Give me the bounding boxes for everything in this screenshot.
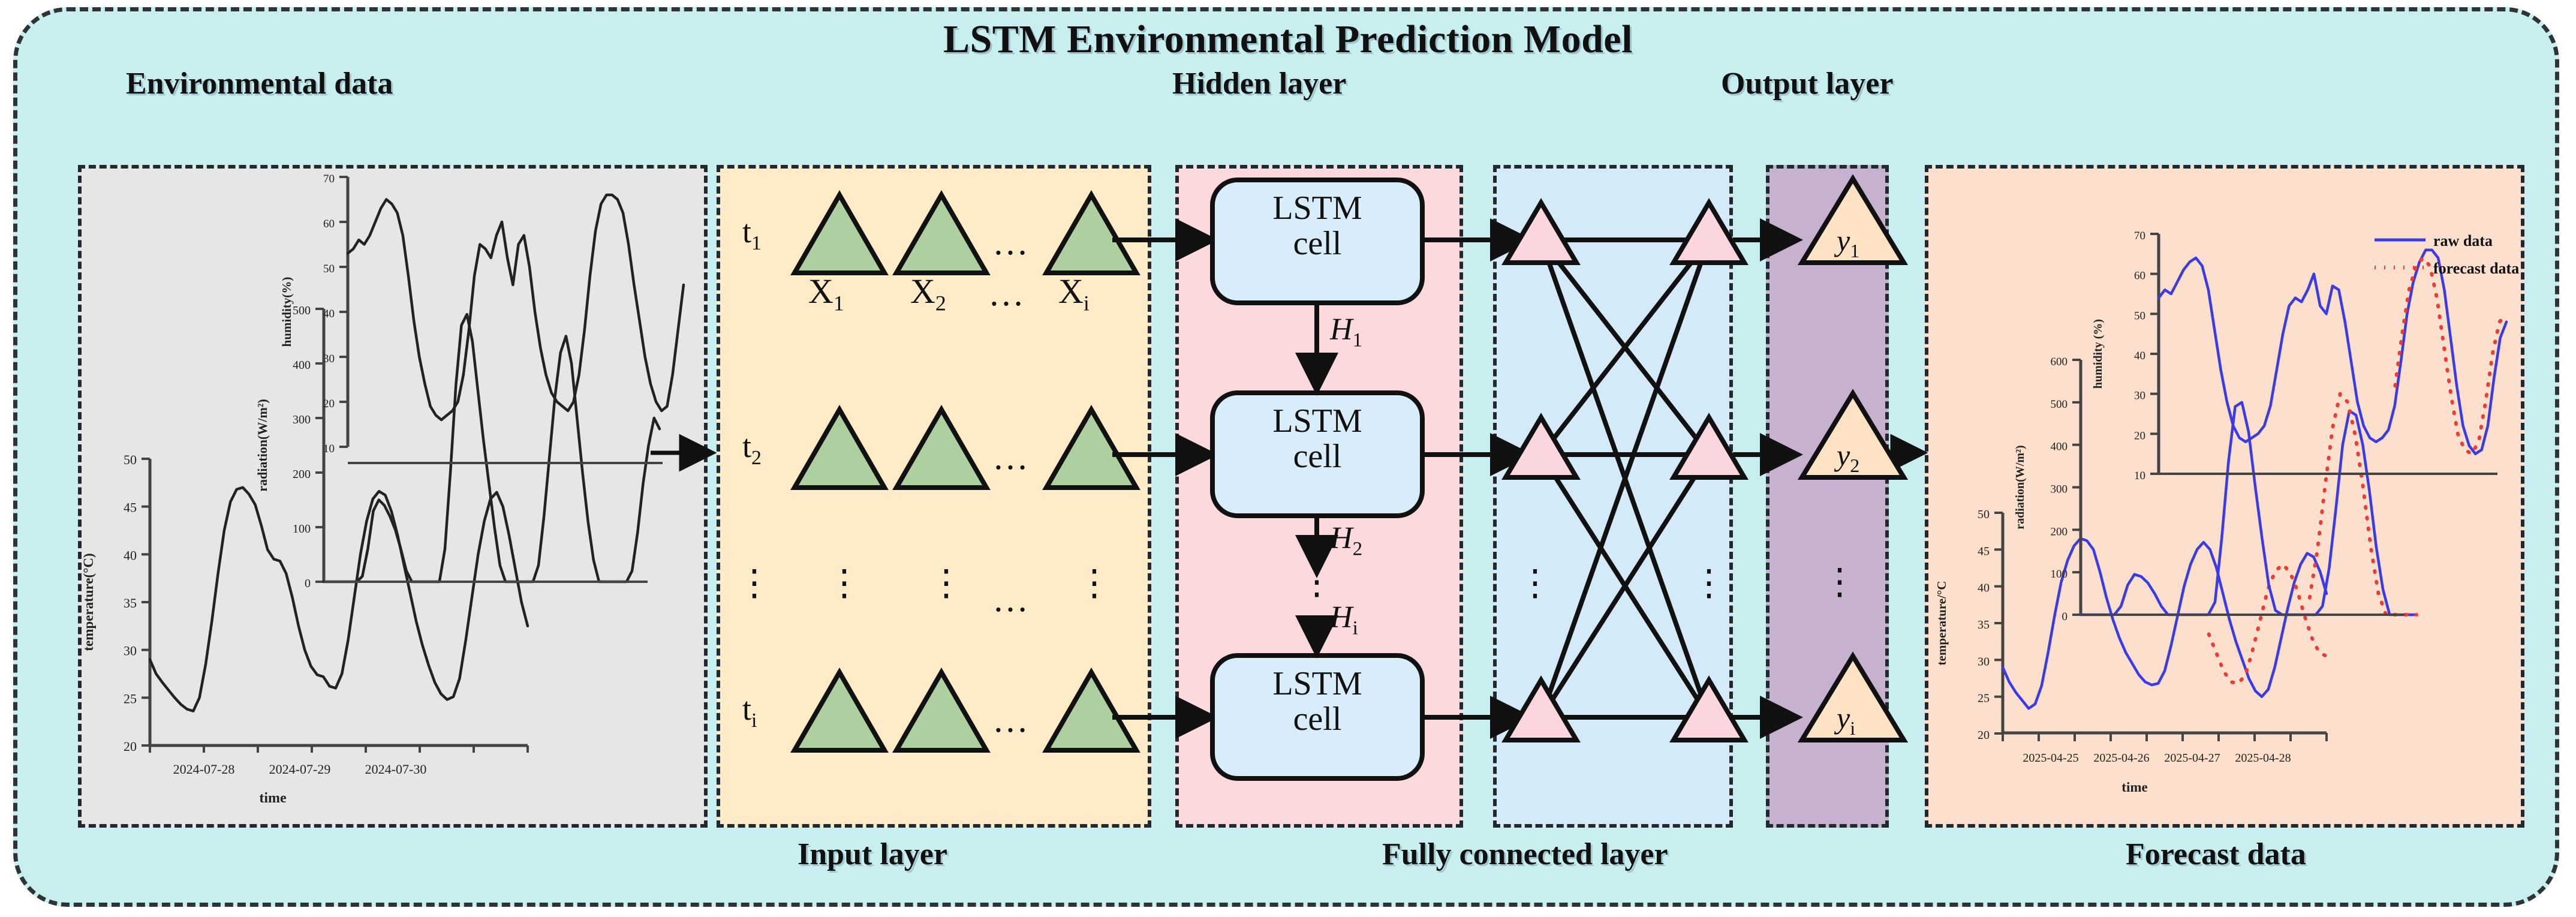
lstm-cell-2-line2: cell [1212, 439, 1422, 474]
h2-base: H [1330, 521, 1353, 555]
label-environmental-data: Environmental data [126, 66, 393, 101]
lstm-cell-1-line2: cell [1212, 226, 1422, 261]
forecast-data-panel [1925, 165, 2524, 828]
diagram-root: LSTM Environmental Prediction Model Envi… [0, 0, 2576, 917]
label-fully-connected-layer: Fully connected layer [1382, 837, 1668, 872]
h1-base: H [1330, 312, 1353, 347]
output-layer-panel [1766, 165, 1889, 828]
label-output-layer: Output layer [1721, 66, 1893, 101]
output-y2: y2 [1837, 438, 1859, 477]
input-row2-ellipsis: … [992, 437, 1032, 478]
input-vdots-col1: ⋮ [826, 576, 862, 591]
xi-sub: i [1084, 291, 1090, 315]
x1-base: X [808, 272, 833, 311]
hidden-state-hi: Hi [1330, 600, 1358, 639]
y1-base: y [1837, 224, 1850, 257]
t1-base: t [742, 214, 751, 249]
input-vdots-col2: ⋮ [928, 576, 964, 591]
output-y1: y1 [1837, 223, 1859, 262]
hi-sub: i [1353, 617, 1358, 639]
xi-base: X [1058, 272, 1084, 311]
y1-sub: 1 [1850, 240, 1859, 261]
input-timestep-t1: t1 [742, 213, 762, 255]
output-yi: yi [1837, 700, 1855, 739]
lstm-cell-1-line1: LSTM [1212, 191, 1422, 226]
yi-sub: i [1850, 717, 1855, 739]
input-layer-panel [717, 165, 1151, 828]
input-timestep-ti: ti [742, 690, 757, 732]
label-forecast-data: Forecast data [2126, 837, 2306, 872]
input-timestep-t2: t2 [742, 428, 762, 470]
h1-sub: 1 [1353, 329, 1363, 351]
label-hidden-layer: Hidden layer [1172, 66, 1346, 101]
lstm-cell-i-line2: cell [1212, 702, 1422, 737]
environmental-data-panel [78, 165, 708, 828]
yi-base: y [1837, 701, 1850, 735]
hi-base: H [1330, 600, 1353, 635]
input-vdots-col0: ⋮ [736, 576, 772, 591]
y2-base: y [1837, 438, 1850, 472]
hidden-state-h1: H1 [1330, 312, 1362, 351]
input-feature-x1: X1 [808, 271, 844, 316]
lstm-cell-2-label: LSTM cell [1212, 404, 1422, 475]
input-row3-ellipsis: … [992, 699, 1032, 741]
page-title: LSTM Environmental Prediction Model [0, 17, 2576, 62]
lstm-cell-i-label: LSTM cell [1212, 666, 1422, 738]
input-feature-ellipsis: … [988, 273, 1028, 314]
input-feature-x2: X2 [910, 271, 946, 316]
lstm-cell-2-line1: LSTM [1212, 404, 1422, 439]
t2-sub: 2 [751, 447, 762, 469]
x2-sub: 2 [935, 291, 946, 315]
fully-connected-layer-panel [1493, 165, 1733, 828]
input-feature-xi: Xi [1058, 271, 1090, 316]
t1-sub: 1 [751, 232, 762, 254]
h2-sub: 2 [1353, 538, 1363, 560]
input-vdots-ellipsis: … [992, 579, 1032, 620]
ti-base: t [742, 691, 751, 727]
x2-base: X [910, 272, 935, 311]
fc-vdots-left: ⋮ [1517, 576, 1553, 591]
ti-sub: i [751, 709, 757, 732]
t2-base: t [742, 428, 751, 464]
hidden-state-h2: H2 [1330, 521, 1362, 560]
x1-sub: 1 [833, 291, 844, 315]
lstm-cell-i-line1: LSTM [1212, 666, 1422, 702]
lstm-cell-1-label: LSTM cell [1212, 191, 1422, 262]
output-vdots: ⋮ [1810, 575, 1870, 590]
y2-sub: 2 [1850, 455, 1859, 476]
input-vdots-col3: ⋮ [1076, 576, 1112, 591]
hidden-vdots: ⋮ [1299, 575, 1335, 590]
input-row1-ellipsis: … [992, 222, 1032, 263]
label-input-layer: Input layer [798, 837, 947, 872]
fc-vdots-right: ⋮ [1691, 576, 1727, 591]
